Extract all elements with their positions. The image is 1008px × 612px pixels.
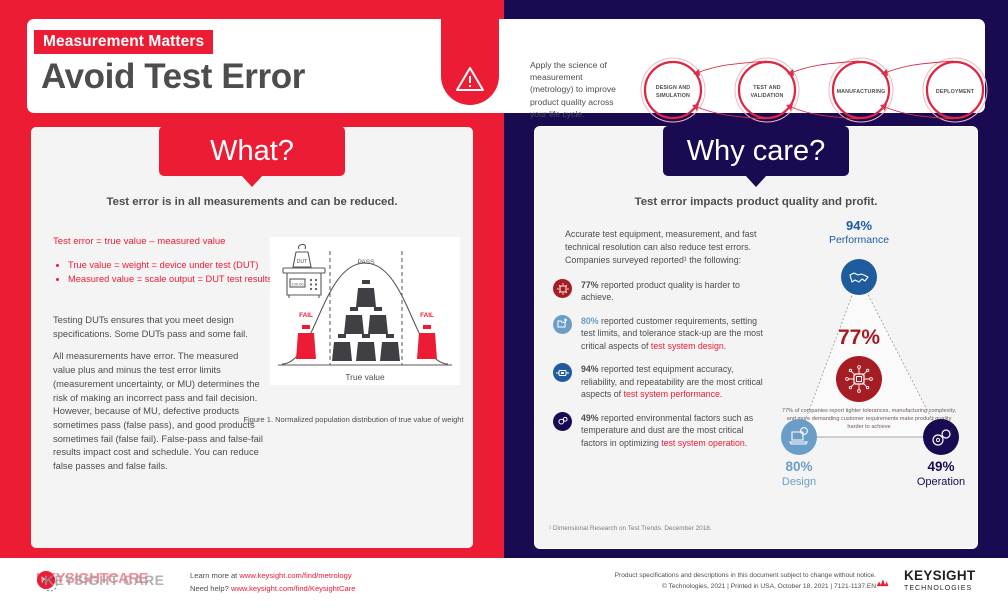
body-paragraph-1: Testing DUTs ensures that you meet desig…	[53, 313, 263, 340]
lifecycle-label-0-line2: SIMULATION	[656, 93, 690, 99]
keysightcare-wordmark-overlay: KEYSIGHT CARE	[44, 572, 164, 588]
legal-line-1: Product specifications and descriptions …	[615, 571, 876, 582]
chip-target-icon	[836, 356, 882, 402]
list-item: True value = weight = device under test …	[68, 259, 284, 272]
gears-icon	[923, 419, 959, 455]
requirements-upload-icon	[553, 315, 572, 334]
stat-percent: 77%	[581, 280, 599, 290]
survey-stat-list: 77% reported product quality is harder t…	[549, 279, 765, 460]
keysight-brand: KEYSIGHT TECHNOLOGIES	[904, 569, 986, 592]
right-panel-subtitle: Test error impacts product quality and p…	[535, 196, 977, 208]
need-help-line: Need help? www.keysight.com/find/Keysigh…	[190, 583, 355, 596]
need-help-label: Need help?	[190, 584, 231, 593]
tab-why-care: Why care?	[663, 126, 849, 176]
legal-text: Product specifications and descriptions …	[615, 571, 876, 592]
metrology-link[interactable]: www.keysight.com/find/metrology	[239, 571, 351, 580]
lifecycle-diagram: DESIGN AND SIMULATION TEST AND VALIDATIO…	[627, 55, 1005, 125]
figure-caption: Figure 1. Normalized population distribu…	[241, 415, 466, 425]
pass-label: PASS	[357, 259, 375, 266]
stat-tail: .	[720, 389, 722, 399]
eyebrow-label: Measurement Matters	[34, 30, 213, 54]
footnote: ¹ Dimensional Research on Test Trends. D…	[549, 525, 712, 532]
lifecycle-label-2-line1: MANUFACTURING	[837, 89, 886, 95]
infographic-page: Measurement Matters Avoid Test Error App…	[0, 0, 1008, 612]
scale-reading: 100.00	[291, 282, 304, 287]
figure-distribution: DUT 100.00 PASS	[270, 237, 460, 385]
design-percent: 80%	[763, 460, 835, 474]
figure-axis-label: True value	[345, 372, 385, 382]
fail-label-right: FAIL	[420, 312, 434, 319]
lifecycle-label-0-line1: DESIGN AND	[656, 85, 691, 91]
footer-links: Learn more at www.keysight.com/find/metr…	[190, 570, 355, 595]
stat-percent: 80%	[581, 316, 599, 326]
tab-what: What?	[159, 126, 345, 176]
learn-more-label: Learn more at	[190, 571, 239, 580]
brand-name: KEYSIGHT	[904, 569, 986, 583]
stat-text: reported product quality is harder to ac…	[581, 280, 740, 302]
performance-percent: 94%	[819, 219, 899, 233]
right-panel-intro: Accurate test equipment, measurement, an…	[565, 228, 777, 266]
test-error-equation: Test error = true value – measured value	[53, 236, 268, 249]
lifecycle-label-1-line1: TEST AND	[753, 85, 781, 91]
stat-triangle-diagram: 94% Performance 77%	[763, 219, 975, 519]
list-item: Measured value = scale output = DUT test…	[68, 273, 284, 286]
panel-why-care: Why care? Test error impacts product qua…	[534, 126, 978, 549]
operation-percent: 49%	[905, 460, 977, 474]
operation-label: Operation	[905, 477, 977, 489]
design-label: Design	[763, 477, 835, 489]
stat-tail: .	[724, 341, 726, 351]
warning-badge	[441, 19, 499, 105]
test-equipment-icon	[553, 363, 572, 382]
lifecycle-label-1-line2: VALIDATION	[750, 93, 783, 99]
quality-target-icon	[553, 279, 572, 298]
performance-label: Performance	[819, 235, 899, 246]
list-item: 94% reported test equipment accuracy, re…	[549, 363, 765, 400]
header-blurb: Apply the science of measurement (metrol…	[530, 59, 622, 120]
stat-highlight: test system performance	[624, 389, 720, 399]
list-item: 49% reported environmental factors such …	[549, 412, 765, 449]
center-percent: 77%	[819, 327, 899, 349]
page-title: Avoid Test Error	[41, 59, 305, 94]
keysightcare-link[interactable]: www.keysight.com/find/KeysightCare	[231, 584, 356, 593]
learn-more-line: Learn more at www.keysight.com/find/metr…	[190, 570, 355, 583]
stat-highlight: test system operation	[661, 438, 745, 448]
footer: KEYSIGHTCARE KEYSIGHT CARE Learn more at…	[0, 558, 1008, 612]
left-panel-bullets: True value = weight = device under test …	[53, 259, 284, 288]
dut-label: DUT	[297, 259, 308, 265]
fail-label-left: FAIL	[299, 312, 313, 319]
stat-tail: .	[745, 438, 747, 448]
panel-what: What? Test error is in all measurements …	[30, 126, 474, 549]
left-panel-body: Testing DUTs ensures that you meet desig…	[53, 313, 263, 482]
legal-line-2: © Technologies, 2021 | Printed in USA, O…	[615, 582, 876, 593]
warning-triangle-icon	[455, 65, 485, 93]
body-paragraph-2: All measurements have error. The measure…	[53, 349, 263, 472]
stat-highlight: test system design	[651, 341, 724, 351]
gears-icon	[553, 412, 572, 431]
lifecycle-label-3-line1: DEPLOYMENT	[936, 89, 975, 95]
brand-subtitle: TECHNOLOGIES	[904, 585, 986, 592]
stat-percent: 94%	[581, 364, 599, 374]
stat-percent: 49%	[581, 413, 599, 423]
laptop-gear-icon	[781, 419, 817, 455]
handshake-icon	[841, 259, 877, 295]
header-card: Measurement Matters Avoid Test Error App…	[27, 19, 985, 113]
left-panel-subtitle: Test error is in all measurements and ca…	[31, 196, 473, 208]
list-item: 80% reported customer requirements, sett…	[549, 315, 765, 352]
list-item: 77% reported product quality is harder t…	[549, 279, 765, 304]
